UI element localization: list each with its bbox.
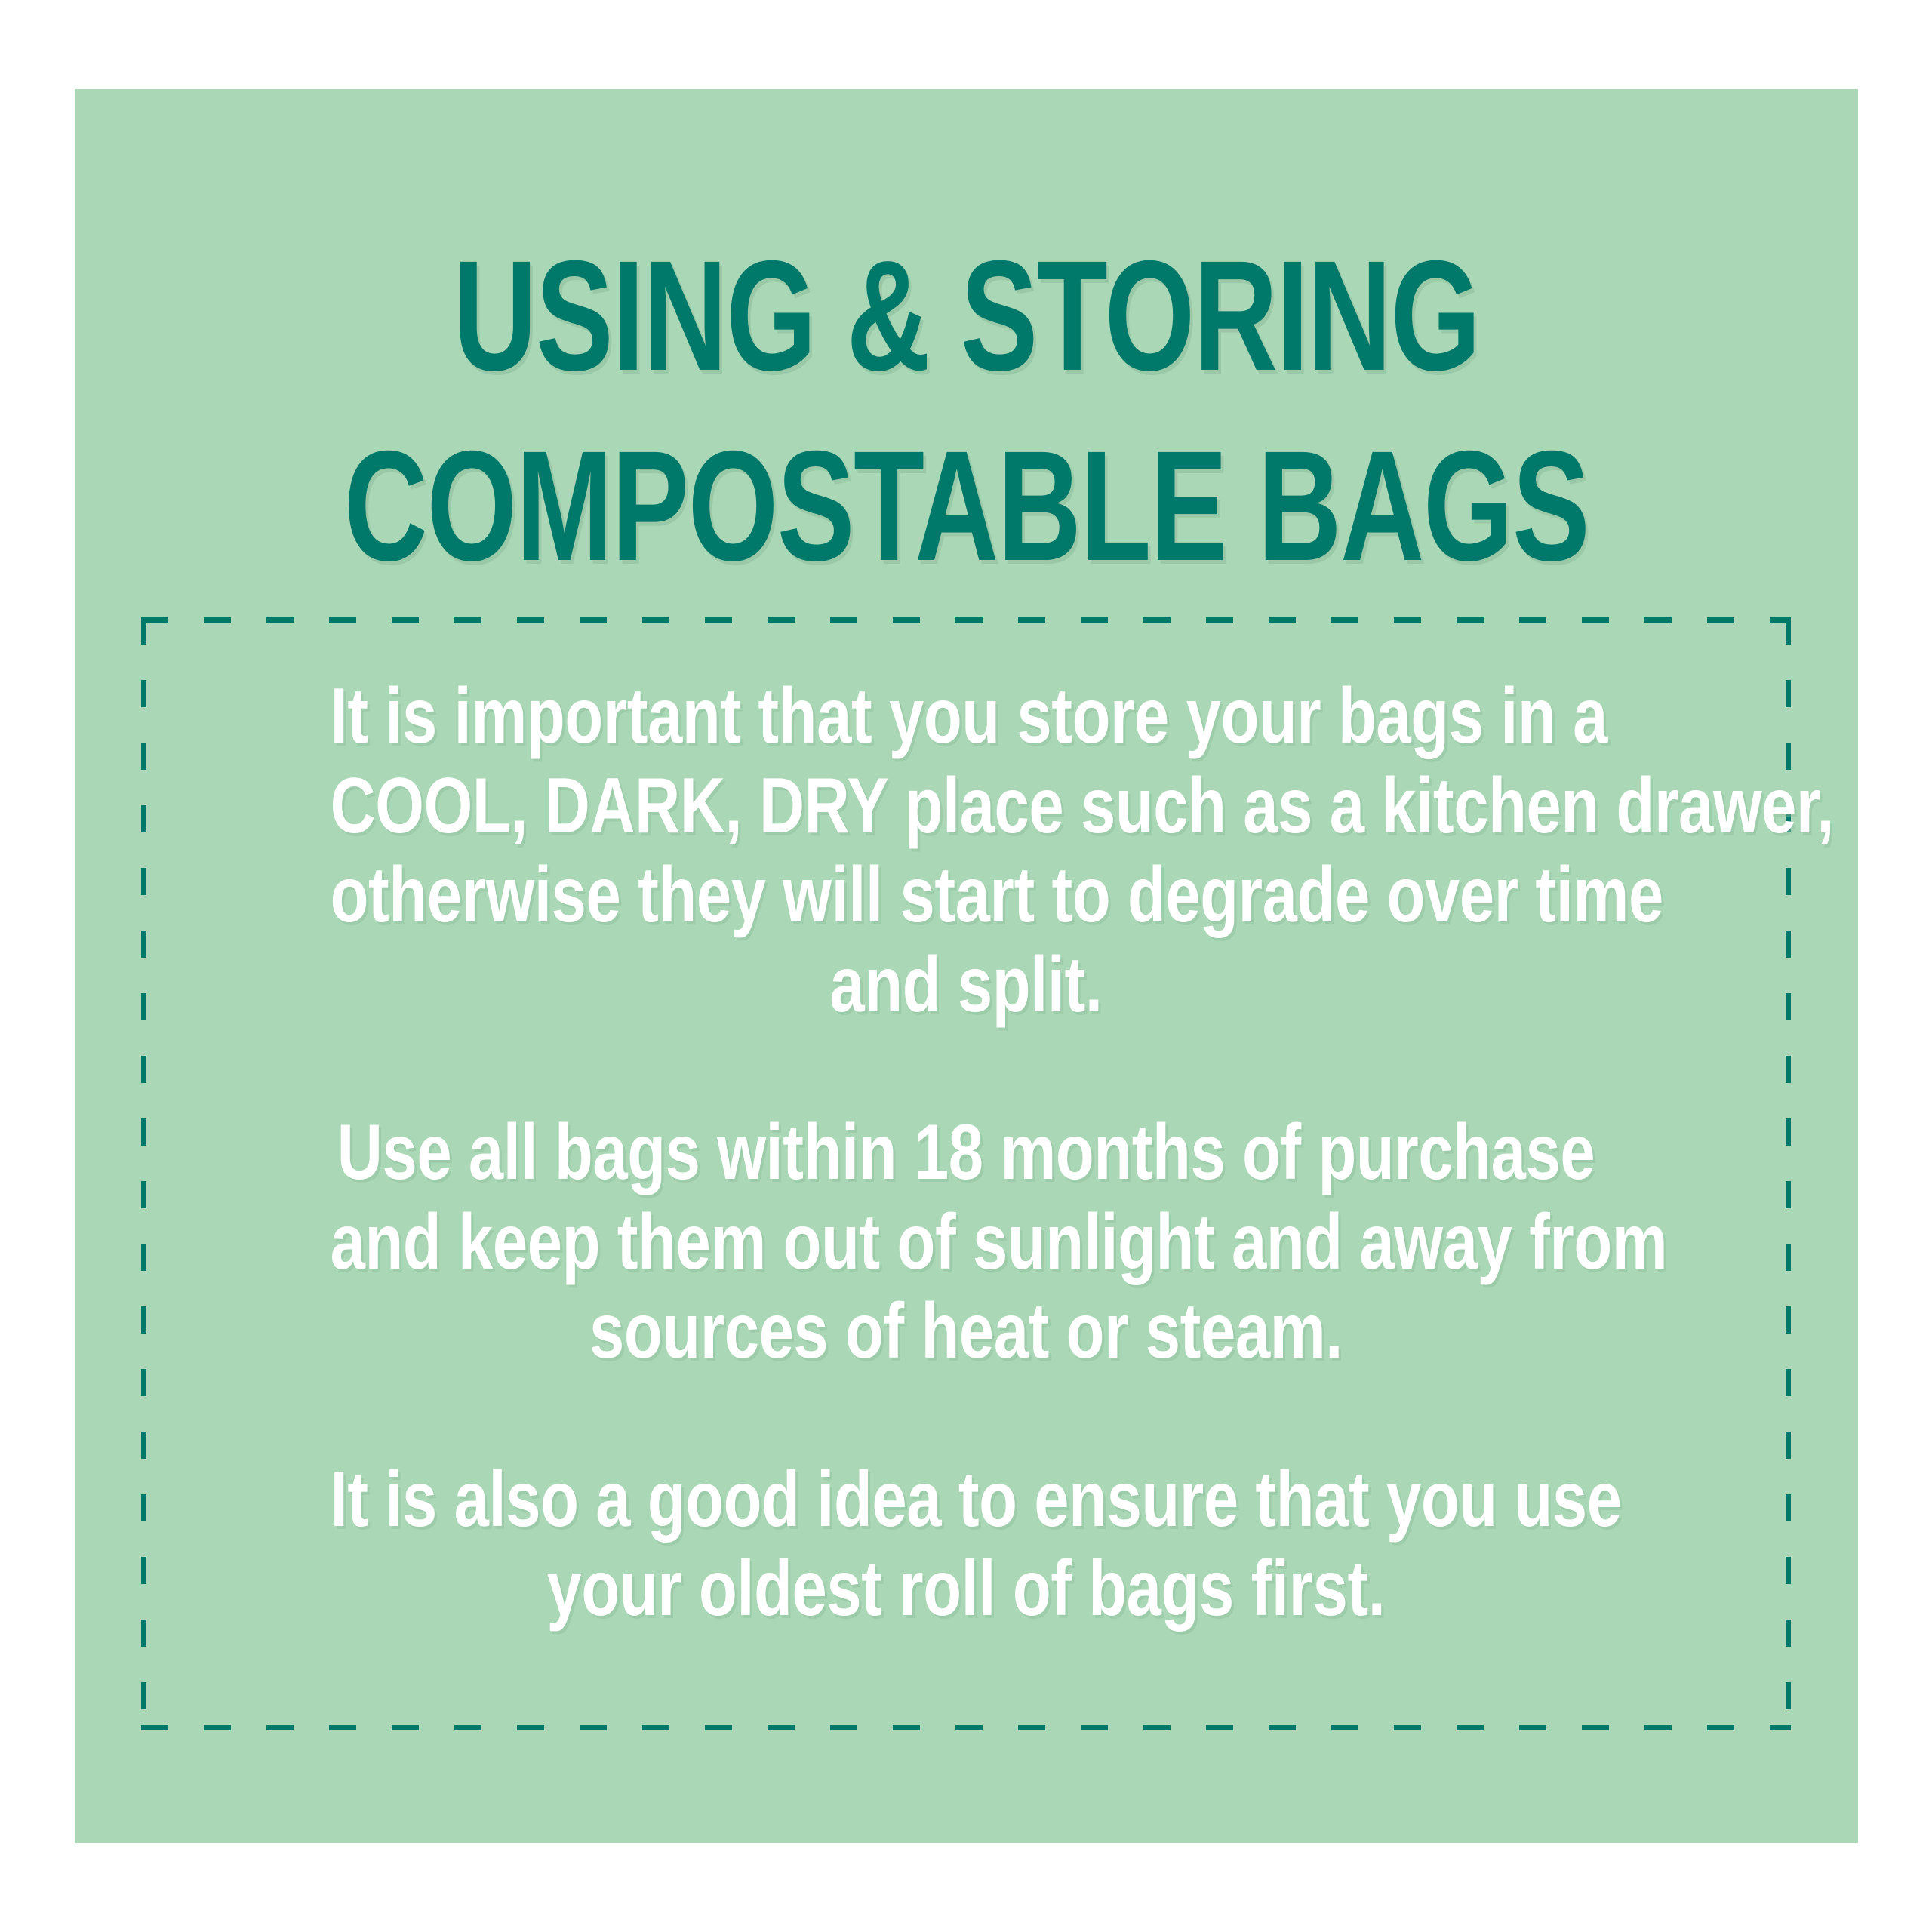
paragraph-storage-conditions: It is important that you store your bags… <box>331 672 1602 1029</box>
paragraph-line: It is also a good idea to ensure that yo… <box>331 1455 1602 1545</box>
paragraph-rotation-advice: It is also a good idea to ensure that yo… <box>331 1455 1602 1634</box>
dashed-border-left <box>141 617 146 1730</box>
paragraph-line: COOL, DARK, DRY place such as a kitchen … <box>331 761 1602 851</box>
page-title-line-1: USING & STORING <box>306 240 1626 394</box>
paragraph-line: and keep them out of sunlight and away f… <box>331 1198 1602 1287</box>
infographic-canvas: USING & STORING COMPOSTABLE BAGS It is i… <box>0 0 1932 1932</box>
paragraph-shelf-life: Use all bags within 18 months of purchas… <box>331 1108 1602 1377</box>
paragraph-line: your oldest roll of bags first. <box>331 1544 1602 1634</box>
green-card-panel: USING & STORING COMPOSTABLE BAGS It is i… <box>75 89 1858 1843</box>
page-title-line-2: COMPOSTABLE BAGS <box>306 430 1626 584</box>
paragraph-line: and split. <box>331 940 1602 1030</box>
paragraph-line: It is important that you store your bags… <box>331 672 1602 761</box>
callout-body-copy: It is important that you store your bags… <box>171 672 1761 1634</box>
paragraph-line: otherwise they will start to degrade ove… <box>331 851 1602 940</box>
dashed-border-top <box>141 617 1791 623</box>
dashed-callout-box: It is important that you store your bags… <box>141 617 1791 1730</box>
paragraph-line: Use all bags within 18 months of purchas… <box>331 1108 1602 1198</box>
dashed-border-bottom <box>141 1725 1791 1730</box>
page-title: USING & STORING COMPOSTABLE BAGS <box>75 240 1858 584</box>
paragraph-line: sources of heat or steam. <box>331 1287 1602 1377</box>
